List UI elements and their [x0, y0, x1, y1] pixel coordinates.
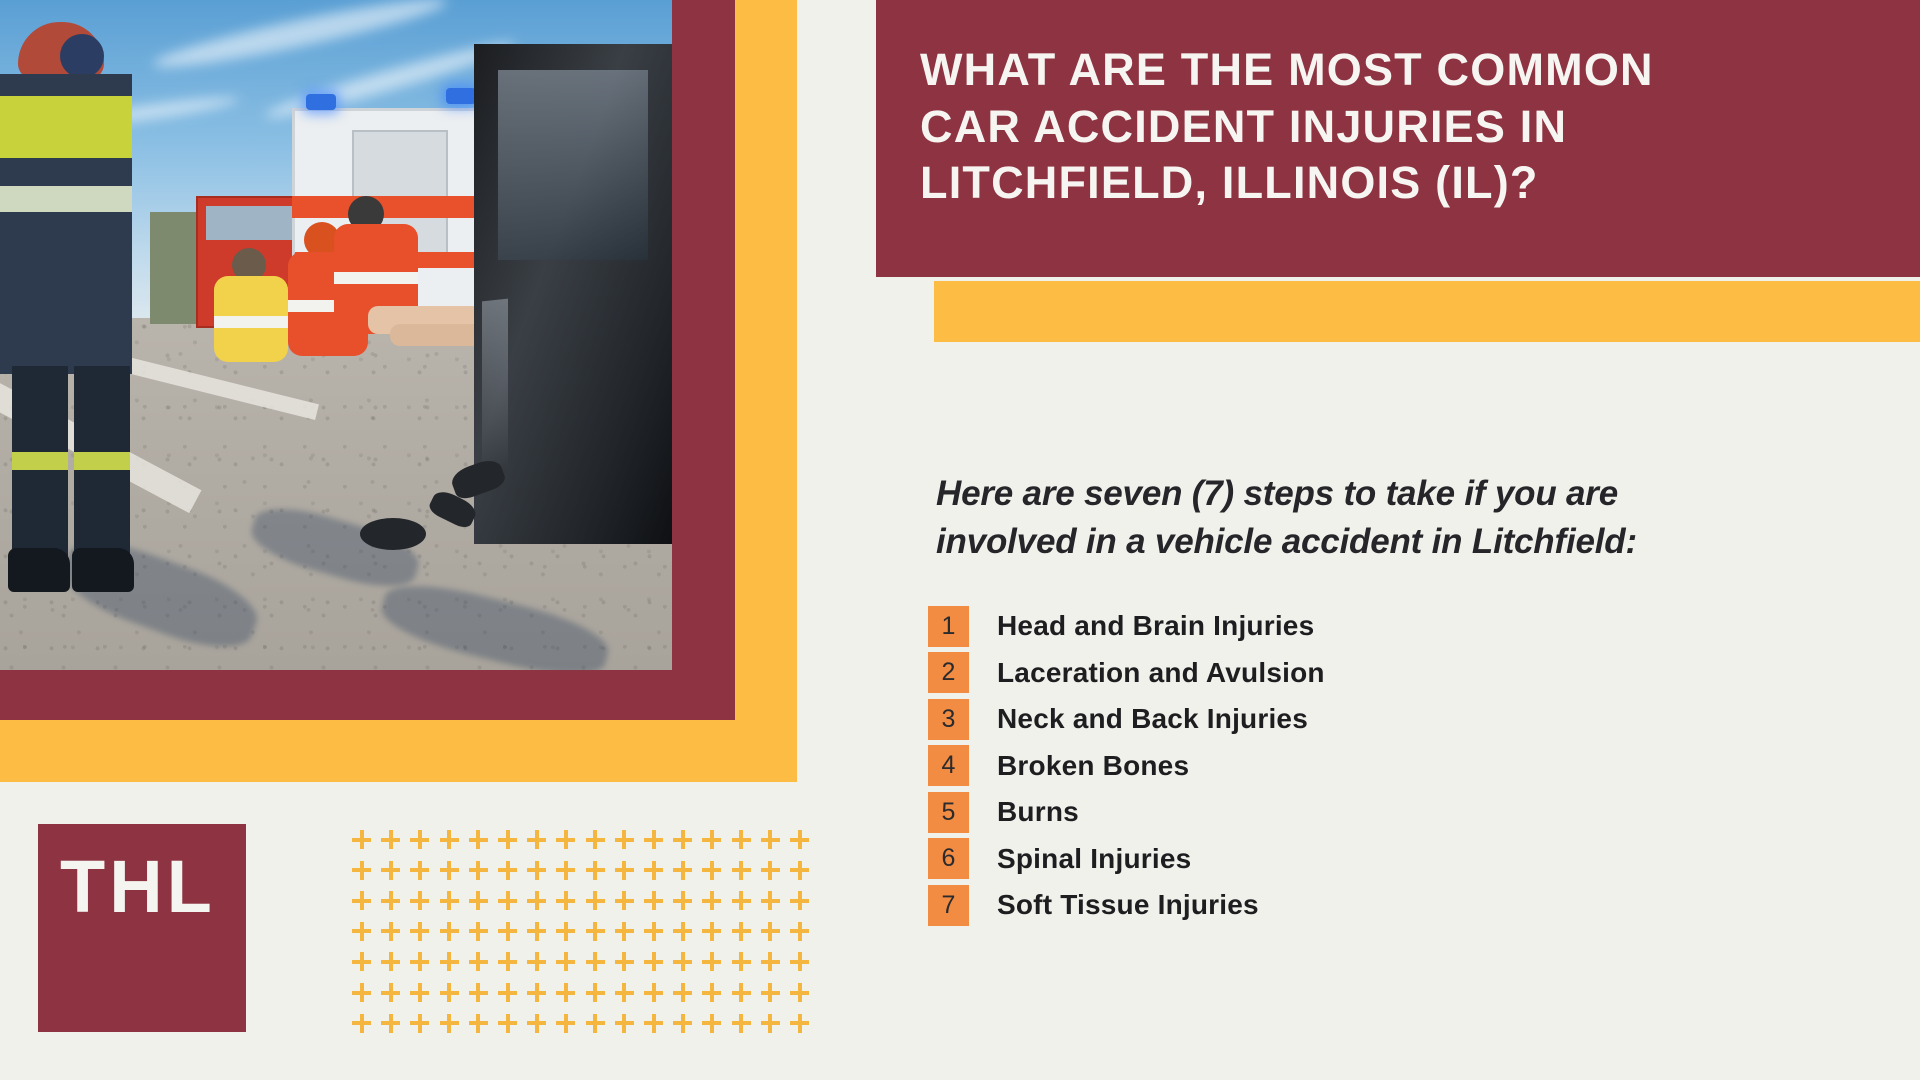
plus-icon: [440, 1014, 459, 1033]
list-item: 3Neck and Back Injuries: [928, 696, 1848, 743]
plus-icon: [410, 830, 429, 849]
plus-icon: [644, 891, 663, 910]
plus-icon: [644, 983, 663, 1002]
plus-icon: [615, 952, 634, 971]
plus-icon: [440, 861, 459, 880]
plus-icon: [498, 891, 517, 910]
plus-icon: [381, 1014, 400, 1033]
plus-icon: [381, 922, 400, 941]
plus-icon: [732, 922, 751, 941]
photo-fire-truck-window: [206, 206, 294, 240]
plus-icon: [732, 983, 751, 1002]
plus-icon: [702, 830, 721, 849]
plus-icon: [498, 922, 517, 941]
plus-icon: [498, 983, 517, 1002]
step-number-badge: 1: [928, 606, 969, 647]
plus-icon: [644, 952, 663, 971]
plus-icon: [469, 922, 488, 941]
plus-icon: [732, 830, 751, 849]
photo-firefighter-leg-band: [12, 452, 68, 470]
thl-logo-text: THL: [60, 850, 216, 924]
plus-icon: [761, 891, 780, 910]
photo-debris: [360, 518, 426, 550]
plus-icon: [527, 922, 546, 941]
list-item: 4Broken Bones: [928, 743, 1848, 790]
plus-icon: [761, 1014, 780, 1033]
plus-icon: [498, 830, 517, 849]
plus-icon: [556, 830, 575, 849]
plus-icon: [615, 922, 634, 941]
step-label: Head and Brain Injuries: [997, 610, 1314, 642]
photo-firefighter-helmet-back: [60, 34, 104, 78]
plus-icon: [527, 830, 546, 849]
photo-firefighter-boot: [8, 548, 70, 592]
plus-icon: [498, 1014, 517, 1033]
plus-icon: [381, 952, 400, 971]
step-number-badge: 6: [928, 838, 969, 879]
list-item: 2Laceration and Avulsion: [928, 650, 1848, 697]
photo-paramedic-reflective-band: [334, 272, 418, 284]
list-item: 5Burns: [928, 789, 1848, 836]
plus-icon: [673, 1014, 692, 1033]
plus-icon: [586, 830, 605, 849]
plus-icon: [469, 830, 488, 849]
plus-icon: [790, 861, 809, 880]
plus-icon: [644, 861, 663, 880]
plus-icon: [644, 1014, 663, 1033]
step-label: Soft Tissue Injuries: [997, 889, 1259, 921]
plus-icon: [527, 861, 546, 880]
infographic-canvas: THL WHAT ARE THE MOST COMMON CAR ACCIDEN…: [0, 0, 1920, 1080]
photo-firefighter-leg-band: [74, 452, 130, 470]
plus-icon: [586, 952, 605, 971]
plus-icon: [790, 952, 809, 971]
plus-icon: [673, 983, 692, 1002]
page-title: WHAT ARE THE MOST COMMON CAR ACCIDENT IN…: [920, 42, 1880, 212]
plus-icon: [702, 922, 721, 941]
photo-background-vehicle: [150, 212, 202, 324]
plus-icon: [586, 983, 605, 1002]
plus-icon: [469, 1014, 488, 1033]
plus-icon: [410, 861, 429, 880]
plus-icon: [732, 861, 751, 880]
plus-icon: [615, 983, 634, 1002]
plus-icon: [732, 1014, 751, 1033]
photo-emergency-light: [306, 94, 336, 110]
plus-icon: [527, 983, 546, 1002]
plus-icon: [702, 861, 721, 880]
intro-line-1: Here are seven (7) steps to take if you …: [936, 470, 1836, 518]
plus-icon: [673, 830, 692, 849]
photo-firefighter-boot: [72, 548, 134, 592]
plus-icon: [761, 983, 780, 1002]
plus-icon: [352, 983, 371, 1002]
plus-icon: [702, 952, 721, 971]
plus-pattern-decoration: [352, 830, 816, 1042]
plus-icon: [586, 1014, 605, 1033]
photo-patient-leg: [390, 324, 486, 346]
plus-icon: [702, 983, 721, 1002]
plus-icon: [761, 922, 780, 941]
plus-icon: [615, 891, 634, 910]
plus-icon: [469, 983, 488, 1002]
plus-icon: [381, 861, 400, 880]
plus-icon: [381, 830, 400, 849]
title-accent-bar: [934, 281, 1920, 342]
plus-icon: [644, 830, 663, 849]
plus-icon: [469, 891, 488, 910]
page-title-line-3: LITCHFIELD, ILLINOIS (IL)?: [920, 155, 1880, 212]
plus-icon: [352, 891, 371, 910]
photo-firefighter-hi-vis: [0, 96, 132, 158]
plus-icon: [615, 1014, 634, 1033]
photo-paramedic-reflective-band: [214, 316, 288, 328]
plus-icon: [527, 1014, 546, 1033]
plus-icon: [410, 983, 429, 1002]
page-title-line-1: WHAT ARE THE MOST COMMON: [920, 42, 1880, 99]
plus-icon: [644, 922, 663, 941]
plus-icon: [556, 1014, 575, 1033]
plus-icon: [469, 952, 488, 971]
plus-icon: [440, 891, 459, 910]
step-number-badge: 2: [928, 652, 969, 693]
step-label: Burns: [997, 796, 1079, 828]
plus-icon: [790, 983, 809, 1002]
list-item: 7Soft Tissue Injuries: [928, 882, 1848, 929]
photo-emergency-light: [446, 88, 476, 104]
plus-icon: [410, 891, 429, 910]
title-banner: WHAT ARE THE MOST COMMON CAR ACCIDENT IN…: [876, 0, 1920, 277]
intro-paragraph: Here are seven (7) steps to take if you …: [936, 470, 1836, 565]
injury-steps-list: 1Head and Brain Injuries2Laceration and …: [928, 603, 1848, 929]
plus-icon: [556, 952, 575, 971]
plus-icon: [410, 1014, 429, 1033]
plus-icon: [586, 861, 605, 880]
plus-icon: [586, 891, 605, 910]
plus-icon: [352, 1014, 371, 1033]
plus-icon: [732, 891, 751, 910]
plus-icon: [440, 922, 459, 941]
page-title-line-2: CAR ACCIDENT INJURIES IN: [920, 99, 1880, 156]
plus-icon: [556, 861, 575, 880]
step-label: Laceration and Avulsion: [997, 657, 1325, 689]
plus-icon: [556, 891, 575, 910]
plus-icon: [410, 922, 429, 941]
step-label: Broken Bones: [997, 750, 1189, 782]
plus-icon: [673, 952, 692, 971]
plus-icon: [440, 952, 459, 971]
plus-icon: [498, 952, 517, 971]
plus-icon: [556, 983, 575, 1002]
plus-icon: [352, 922, 371, 941]
plus-icon: [527, 952, 546, 971]
plus-icon: [673, 891, 692, 910]
list-item: 1Head and Brain Injuries: [928, 603, 1848, 650]
plus-icon: [556, 922, 575, 941]
plus-icon: [352, 952, 371, 971]
plus-icon: [615, 861, 634, 880]
list-item: 6Spinal Injuries: [928, 836, 1848, 883]
plus-icon: [790, 922, 809, 941]
plus-icon: [527, 891, 546, 910]
step-number-badge: 7: [928, 885, 969, 926]
step-label: Neck and Back Injuries: [997, 703, 1308, 735]
thl-logo: THL: [38, 824, 246, 1032]
photo-car-highlight: [482, 299, 508, 472]
step-number-badge: 3: [928, 699, 969, 740]
plus-icon: [381, 983, 400, 1002]
plus-icon: [673, 922, 692, 941]
plus-icon: [440, 830, 459, 849]
plus-icon: [440, 983, 459, 1002]
photo-firefighter-reflective-band: [0, 186, 132, 212]
plus-icon: [702, 1014, 721, 1033]
plus-icon: [790, 830, 809, 849]
photo-car-window: [498, 70, 648, 260]
photo-ambulance-stripe: [292, 196, 496, 218]
plus-icon: [381, 891, 400, 910]
step-label: Spinal Injuries: [997, 843, 1191, 875]
plus-icon: [352, 830, 371, 849]
step-number-badge: 5: [928, 792, 969, 833]
plus-icon: [702, 891, 721, 910]
plus-icon: [673, 861, 692, 880]
plus-icon: [761, 861, 780, 880]
plus-icon: [586, 922, 605, 941]
plus-icon: [761, 830, 780, 849]
plus-icon: [352, 861, 371, 880]
plus-icon: [469, 861, 488, 880]
plus-icon: [790, 891, 809, 910]
accident-scene-photo: [0, 0, 672, 670]
intro-line-2: involved in a vehicle accident in Litchf…: [936, 518, 1836, 566]
plus-icon: [498, 861, 517, 880]
plus-icon: [761, 952, 780, 971]
plus-icon: [410, 952, 429, 971]
plus-icon: [615, 830, 634, 849]
plus-icon: [790, 1014, 809, 1033]
step-number-badge: 4: [928, 745, 969, 786]
plus-icon: [732, 952, 751, 971]
